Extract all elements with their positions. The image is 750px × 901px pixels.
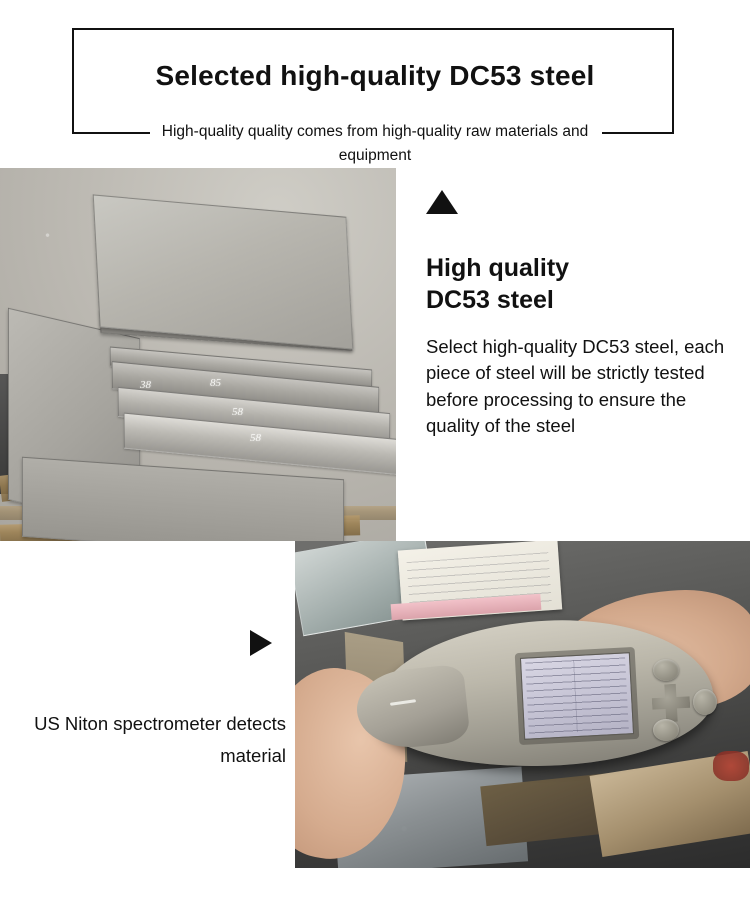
photo-inner-steel: 85 58 58 38 <box>0 168 396 541</box>
red-object <box>713 751 749 781</box>
feature-text-column: High quality DC53 steel Select high-qual… <box>426 190 730 439</box>
promo-page: Selected high-quality DC53 steel High-qu… <box>0 0 750 901</box>
spectrometer-screen-bezel <box>515 647 640 745</box>
feature-heading: High quality DC53 steel <box>426 252 730 316</box>
feature-body-text: Select high-quality DC53 steel, each pie… <box>426 334 730 439</box>
niton-xrf-spectrometer-photo <box>295 541 750 868</box>
photo-inner-spectrometer <box>295 541 750 868</box>
spectrometer-screen <box>520 652 634 740</box>
inspection-caption-column: US Niton spectrometer detects material <box>18 630 290 773</box>
spectrometer-readout-rows <box>525 657 629 734</box>
stacked-dc53-steel-plates-photo: 85 58 58 38 <box>0 168 396 541</box>
header-block: Selected high-quality DC53 steel High-qu… <box>0 0 750 168</box>
page-title: Selected high-quality DC53 steel <box>0 62 750 90</box>
triangle-up-icon <box>426 190 458 214</box>
spectrometer-button <box>693 689 717 715</box>
page-subtitle: High-quality quality comes from high-qua… <box>155 120 595 168</box>
spectrometer-button <box>653 719 679 741</box>
triangle-right-icon <box>250 630 272 656</box>
inspection-caption: US Niton spectrometer detects material <box>18 708 290 773</box>
spectrometer-button <box>653 659 679 681</box>
steel-plate-top <box>93 194 354 349</box>
